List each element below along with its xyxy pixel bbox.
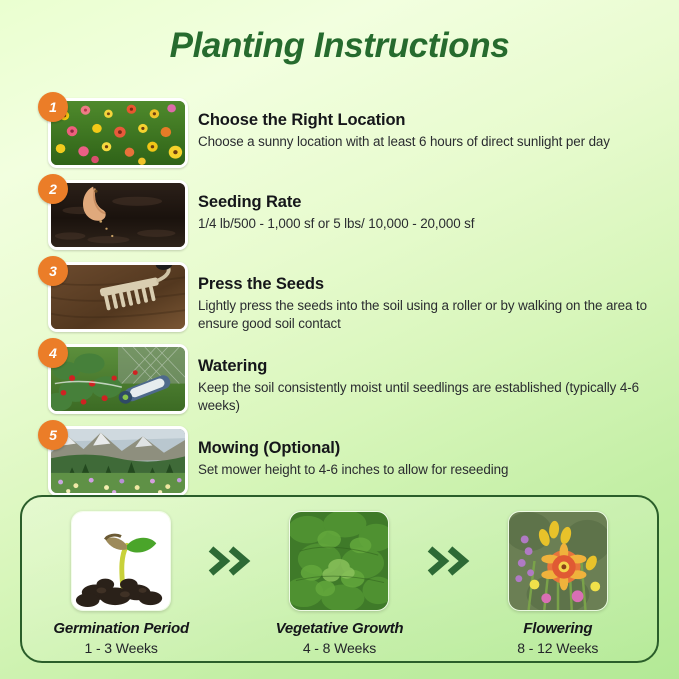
garden-sprinkler-photo bbox=[48, 344, 188, 414]
step-title: Choose the Right Location bbox=[198, 110, 665, 130]
rake-on-soil-photo bbox=[48, 262, 188, 332]
mountain-wildflower-field-photo bbox=[48, 426, 188, 496]
step-title: Seeding Rate bbox=[198, 192, 665, 212]
wildflower-meadow-photo bbox=[48, 98, 188, 168]
step-item: 1 bbox=[0, 98, 679, 170]
blooming-flowers-photo bbox=[508, 511, 608, 611]
timeline-stage-label: Flowering bbox=[479, 620, 637, 637]
hand-sowing-seeds-photo bbox=[48, 180, 188, 250]
page-title: Planting Instructions bbox=[0, 26, 679, 66]
timeline-stage-label: Germination Period bbox=[42, 620, 200, 637]
step-thumbnail-wrap: 4 bbox=[38, 344, 198, 414]
step-number-badge: 5 bbox=[38, 420, 68, 450]
step-text: Choose the Right Location Choose a sunny… bbox=[198, 98, 679, 151]
step-description: 1/4 lb/500 - 1,000 sf or 5 lbs/ 10,000 -… bbox=[198, 215, 665, 233]
step-text: Press the Seeds Lightly press the seeds … bbox=[198, 262, 679, 333]
step-thumbnail-wrap: 3 bbox=[38, 262, 198, 332]
step-number-badge: 1 bbox=[38, 92, 68, 122]
double-chevron-right-icon bbox=[200, 511, 260, 611]
double-chevron-right-icon bbox=[419, 511, 479, 611]
step-number-badge: 2 bbox=[38, 174, 68, 204]
timeline-stage-label: Vegetative Growth bbox=[260, 620, 418, 637]
planting-instructions-infographic: Planting Instructions 1 bbox=[0, 0, 679, 679]
step-description: Keep the soil consistently moist until s… bbox=[198, 379, 665, 414]
timeline-stage-vegetative: Vegetative Growth 4 - 8 Weeks bbox=[260, 511, 418, 656]
step-text: Mowing (Optional) Set mower height to 4-… bbox=[198, 426, 679, 479]
steps-list: 1 bbox=[0, 98, 679, 508]
timeline-stage-flowering: Flowering 8 - 12 Weeks bbox=[479, 511, 637, 656]
sprouting-seed-photo bbox=[71, 511, 171, 611]
step-title: Mowing (Optional) bbox=[198, 438, 665, 458]
step-item: 3 bbox=[0, 262, 679, 334]
step-number-badge: 4 bbox=[38, 338, 68, 368]
step-thumbnail-wrap: 1 bbox=[38, 98, 198, 168]
step-title: Watering bbox=[198, 356, 665, 376]
timeline-stage-weeks: 8 - 12 Weeks bbox=[479, 640, 637, 656]
timeline-stage-weeks: 4 - 8 Weeks bbox=[260, 640, 418, 656]
step-item: 5 bbox=[0, 426, 679, 498]
step-description: Choose a sunny location with at least 6 … bbox=[198, 133, 665, 151]
step-item: 2 bbox=[0, 180, 679, 252]
step-text: Watering Keep the soil consistently mois… bbox=[198, 344, 679, 415]
step-title: Press the Seeds bbox=[198, 274, 665, 294]
green-foliage-photo bbox=[289, 511, 389, 611]
step-number-badge: 3 bbox=[38, 256, 68, 286]
step-description: Lightly press the seeds into the soil us… bbox=[198, 297, 665, 332]
step-description: Set mower height to 4-6 inches to allow … bbox=[198, 461, 665, 479]
step-text: Seeding Rate 1/4 lb/500 - 1,000 sf or 5 … bbox=[198, 180, 679, 233]
growth-timeline-panel: Germination Period 1 - 3 Weeks bbox=[20, 495, 659, 663]
step-thumbnail-wrap: 5 bbox=[38, 426, 198, 496]
timeline-stage-germination: Germination Period 1 - 3 Weeks bbox=[42, 511, 200, 656]
step-thumbnail-wrap: 2 bbox=[38, 180, 198, 250]
step-item: 4 bbox=[0, 344, 679, 416]
timeline-stage-weeks: 1 - 3 Weeks bbox=[42, 640, 200, 656]
